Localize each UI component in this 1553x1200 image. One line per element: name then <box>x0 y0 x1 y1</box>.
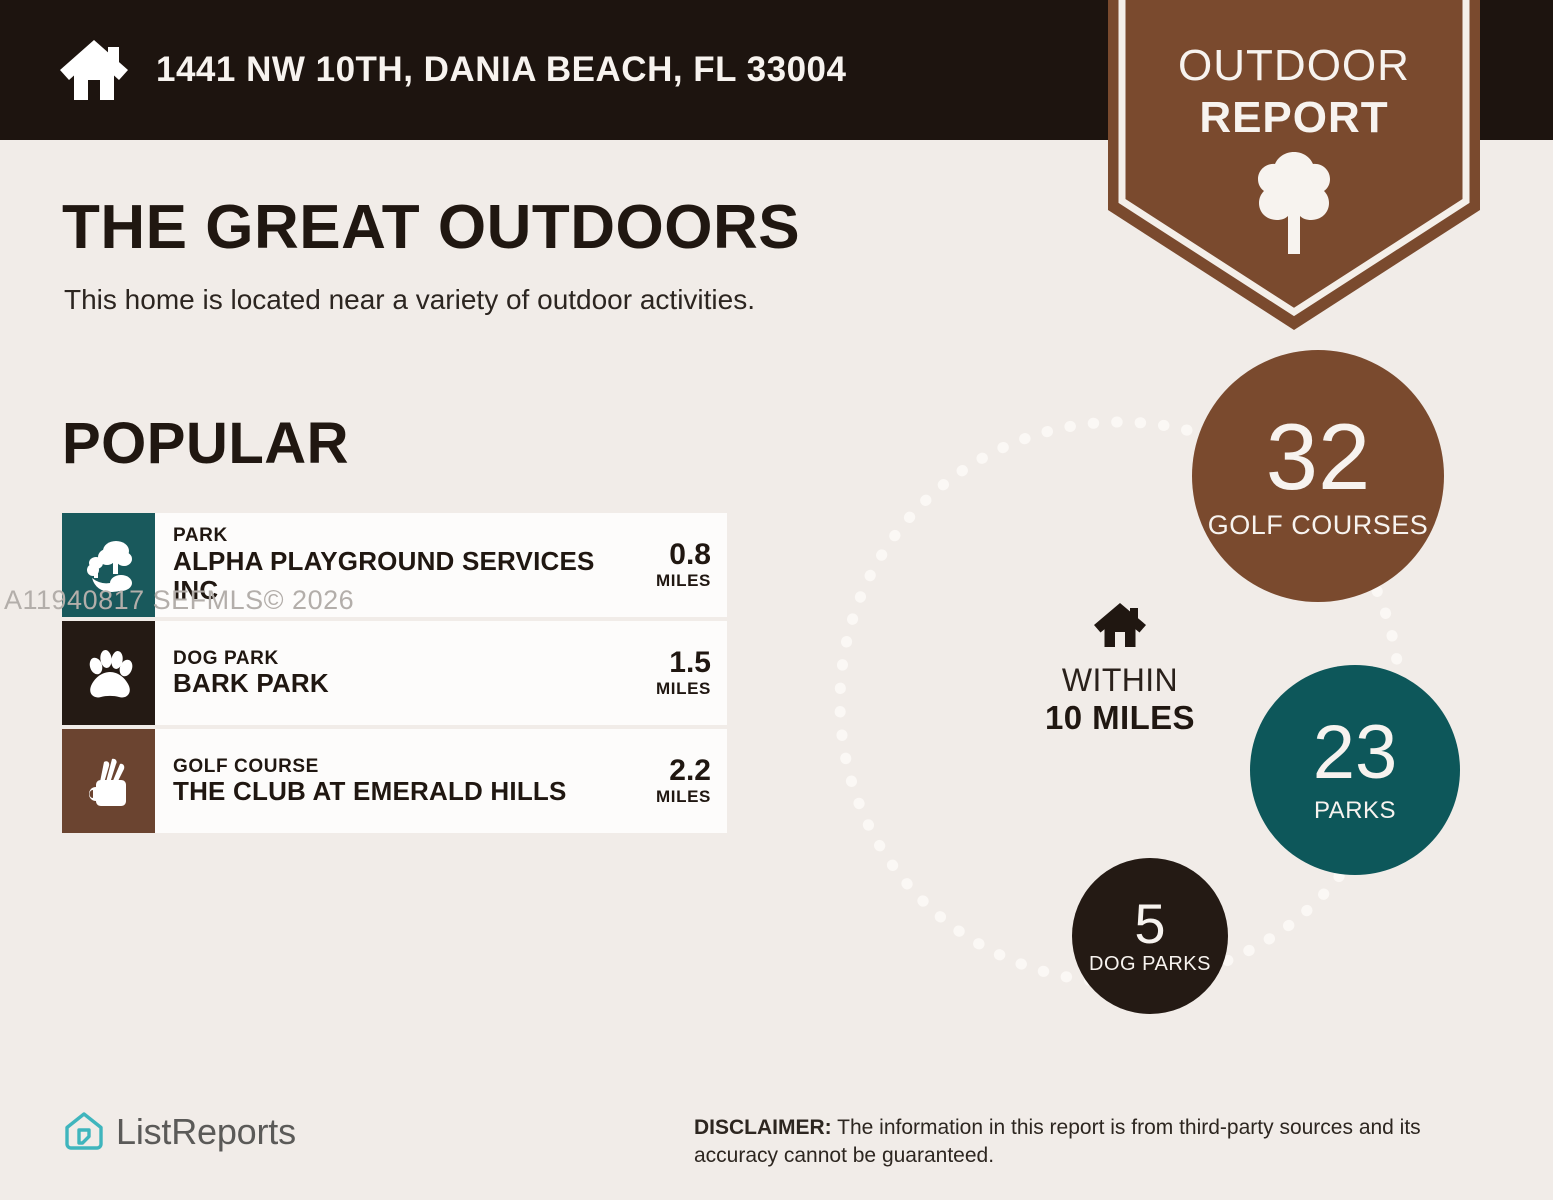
list-item[interactable]: PARK ALPHA PLAYGROUND SERVICES INC 0.8 M… <box>62 513 727 617</box>
stat-label: GOLF COURSES <box>1208 511 1429 539</box>
stat-bubble-dog-parks[interactable]: 5 DOG PARKS <box>1072 858 1228 1014</box>
poi-category: DOG PARK <box>173 648 619 669</box>
golf-bag-icon <box>62 729 155 833</box>
poi-distance-value: 1.5 <box>669 647 711 679</box>
poi-name: THE CLUB AT EMERALD HILLS <box>173 777 619 806</box>
badge-title-line2: REPORT <box>1108 96 1480 140</box>
distance-label: 10 MILES <box>1010 699 1230 737</box>
property-address: 1441 NW 10TH, DANIA BEACH, FL 33004 <box>156 50 846 90</box>
poi-distance: 1.5 MILES <box>619 621 727 725</box>
stat-value: 32 <box>1266 412 1371 501</box>
home-icon <box>1092 600 1148 650</box>
within-label: WITHIN <box>1010 661 1230 699</box>
poi-distance-value: 0.8 <box>669 539 711 571</box>
disclaimer: DISCLAIMER: The information in this repo… <box>694 1114 1494 1171</box>
stat-value: 23 <box>1313 717 1398 789</box>
poi-text: PARK ALPHA PLAYGROUND SERVICES INC <box>155 513 619 617</box>
badge-title-line1: OUTDOOR <box>1108 44 1480 88</box>
paw-print-icon <box>62 621 155 725</box>
poi-category: PARK <box>173 525 619 546</box>
page-title: THE GREAT OUTDOORS <box>62 192 800 263</box>
poi-name: BARK PARK <box>173 669 619 698</box>
poi-distance: 2.2 MILES <box>619 729 727 833</box>
poi-text: GOLF COURSE THE CLUB AT EMERALD HILLS <box>155 729 619 833</box>
listreports-logo-text: ListReports <box>116 1111 296 1153</box>
stat-label: PARKS <box>1314 798 1396 823</box>
disclaimer-label: DISCLAIMER: <box>694 1116 832 1139</box>
home-icon <box>58 34 130 106</box>
poi-distance-unit: MILES <box>656 571 711 591</box>
listreports-logo[interactable]: ListReports <box>62 1110 296 1154</box>
park-tree-icon <box>62 513 155 617</box>
page-subtitle: This home is located near a variety of o… <box>64 284 755 316</box>
stat-label: DOG PARKS <box>1089 954 1211 975</box>
poi-name: ALPHA PLAYGROUND SERVICES INC <box>173 547 619 605</box>
stat-bubble-parks[interactable]: 23 PARKS <box>1250 665 1460 875</box>
stat-bubble-golf-courses[interactable]: 32 GOLF COURSES <box>1192 350 1444 602</box>
popular-poi-list: PARK ALPHA PLAYGROUND SERVICES INC 0.8 M… <box>62 513 727 837</box>
popular-section-heading: POPULAR <box>62 410 349 477</box>
poi-distance-unit: MILES <box>656 679 711 699</box>
poi-text: DOG PARK BARK PARK <box>155 621 619 725</box>
outdoor-report-badge: OUTDOOR REPORT <box>1108 0 1480 330</box>
stat-value: 5 <box>1134 897 1165 950</box>
center-callout: WITHIN 10 MILES <box>1010 600 1230 737</box>
listreports-house-icon <box>62 1110 106 1154</box>
list-item[interactable]: GOLF COURSE THE CLUB AT EMERALD HILLS 2.… <box>62 729 727 833</box>
poi-category: GOLF COURSE <box>173 756 619 777</box>
within-10-miles-diagram: WITHIN 10 MILES 32 GOLF COURSES 23 PARKS… <box>800 340 1500 1060</box>
poi-distance: 0.8 MILES <box>619 513 727 617</box>
poi-distance-unit: MILES <box>656 787 711 807</box>
list-item[interactable]: DOG PARK BARK PARK 1.5 MILES <box>62 621 727 725</box>
poi-distance-value: 2.2 <box>669 755 711 787</box>
